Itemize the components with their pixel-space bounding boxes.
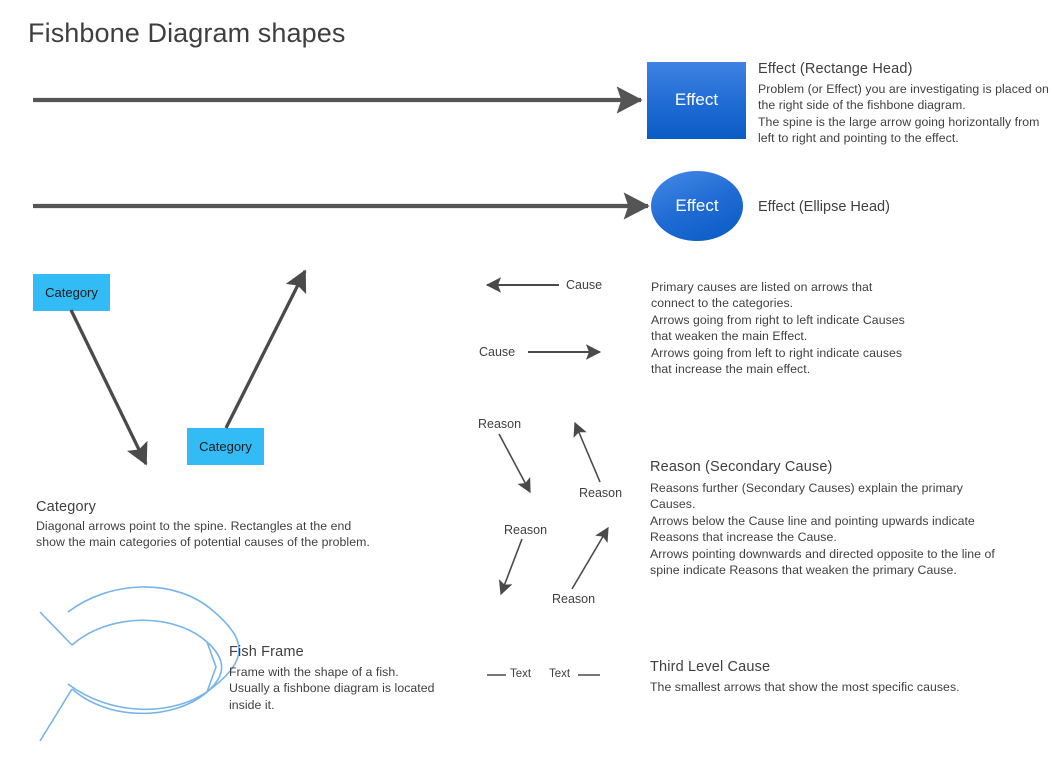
reason-arrow-1-down: [499, 434, 530, 492]
category-heading: Category: [36, 499, 96, 515]
cause-left-label: Cause: [566, 278, 602, 292]
reason-label-4: Reason: [552, 592, 595, 606]
reason-label-1: Reason: [478, 417, 521, 431]
effect-ellipse-label: Effect: [651, 196, 743, 216]
fish-frame-heading: Fish Frame: [229, 644, 304, 660]
reason-body: Reasons further (Secondary Causes) expla…: [650, 480, 1010, 578]
category-box-1-label: Category: [33, 285, 110, 300]
reason-heading: Reason (Secondary Cause): [650, 459, 833, 475]
cause-body: Primary causes are listed on arrows that…: [651, 279, 941, 377]
third-level-label-2: Text: [549, 668, 570, 680]
cause-right-label: Cause: [479, 345, 515, 359]
effect-rectangle-heading: Effect (Rectange Head): [758, 61, 913, 77]
reason-label-2: Reason: [579, 486, 622, 500]
reason-label-3: Reason: [504, 523, 547, 537]
effect-rectangle-body: Problem (or Effect) you are investigatin…: [758, 81, 1050, 147]
category-arrow-up: [226, 271, 305, 428]
third-level-body: The smallest arrows that show the most s…: [650, 679, 1020, 695]
fish-frame-tail: [40, 612, 72, 741]
reason-arrow-2-up: [575, 423, 600, 482]
reason-arrow-3-down: [501, 539, 522, 594]
effect-ellipse-heading: Effect (Ellipse Head): [758, 199, 890, 215]
category-box-2-label: Category: [187, 439, 264, 454]
fish-frame-body: Frame with the shape of a fish. Usually …: [229, 664, 444, 713]
page-title: Fishbone Diagram shapes: [28, 18, 345, 49]
third-level-heading: Third Level Cause: [650, 659, 770, 675]
category-body: Diagonal arrows point to the spine. Rect…: [36, 518, 436, 551]
effect-rectangle-label: Effect: [647, 90, 746, 110]
reason-arrow-4-up: [572, 528, 608, 589]
third-level-label-1: Text: [510, 668, 531, 680]
category-arrow-down: [71, 310, 146, 464]
